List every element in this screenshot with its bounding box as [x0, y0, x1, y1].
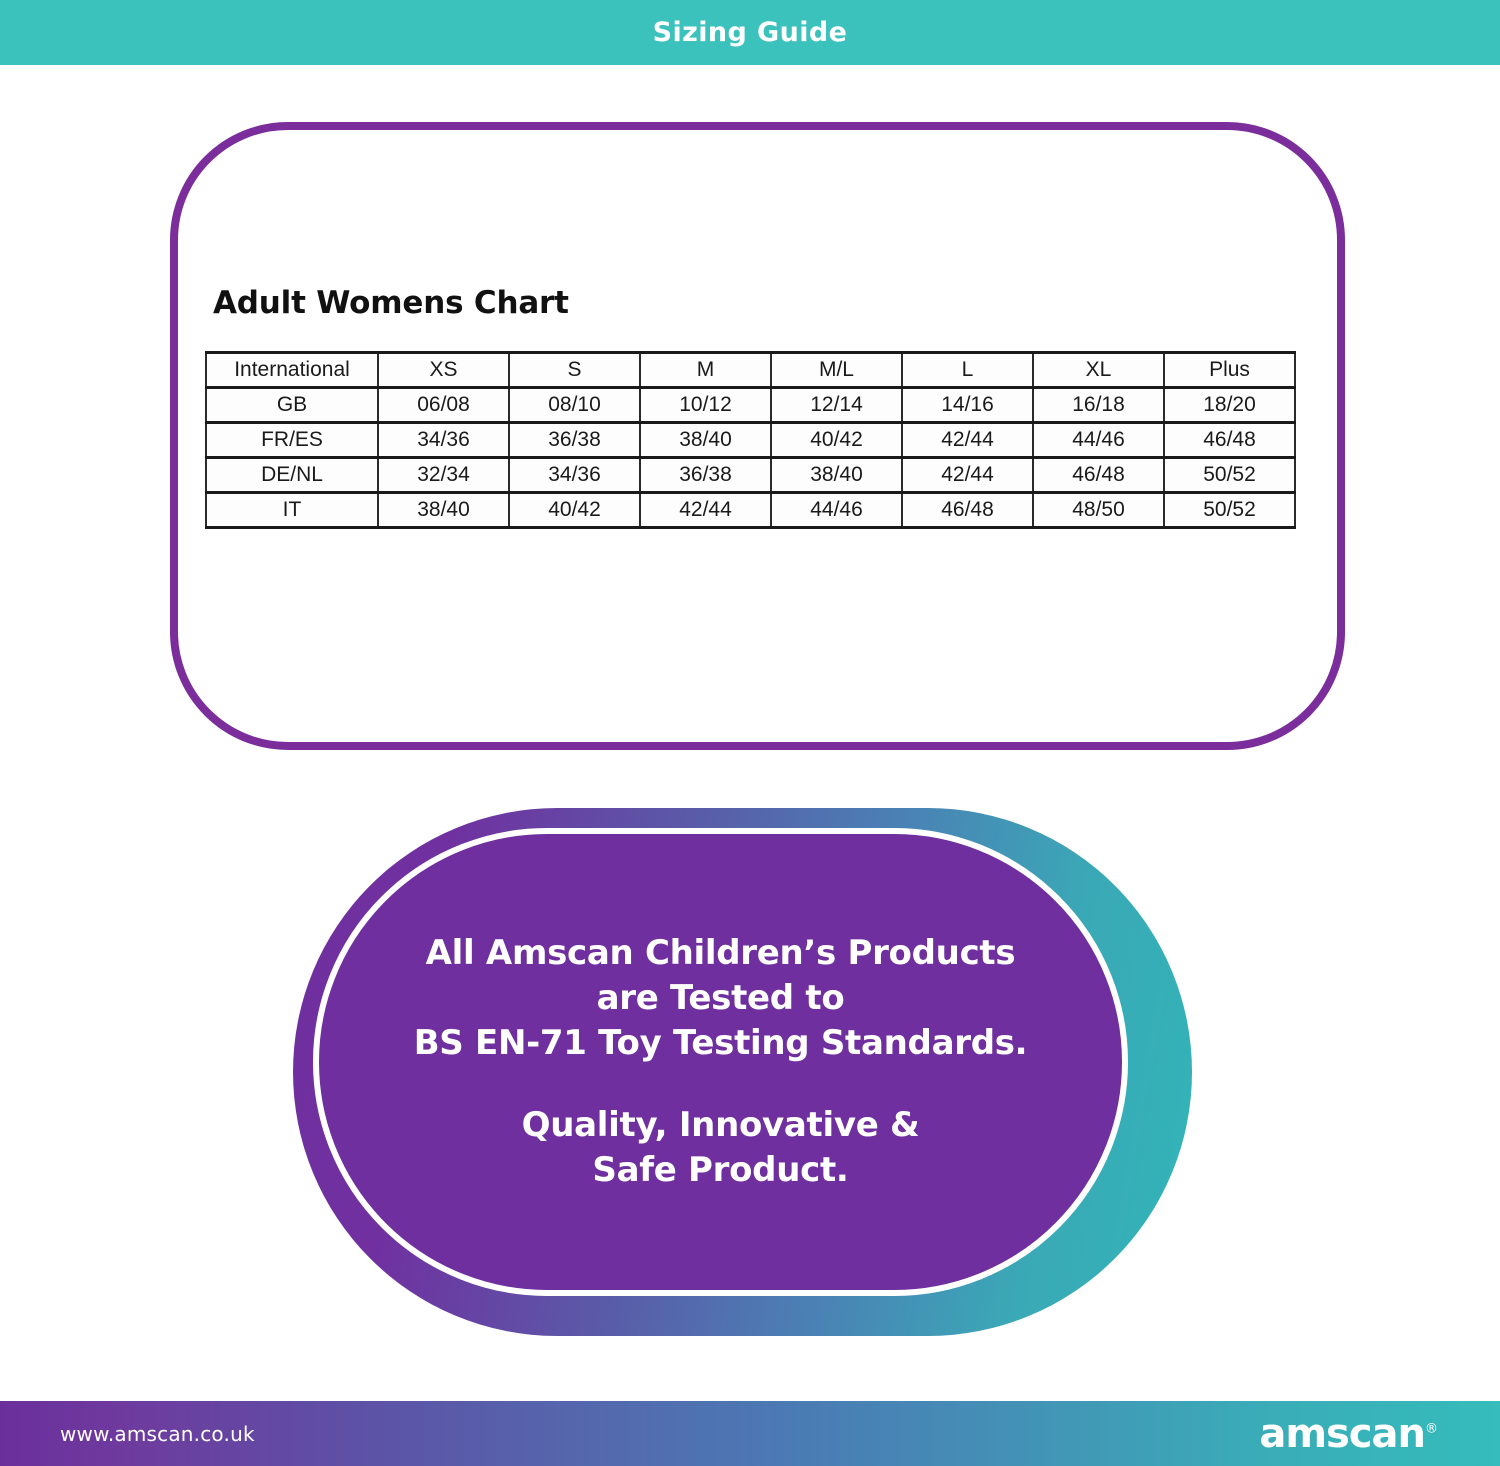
table-cell: 44/46: [1033, 423, 1164, 458]
badge-line: Safe Product.: [592, 1148, 848, 1193]
table-cell: 18/20: [1164, 388, 1295, 423]
table-cell: 40/42: [509, 493, 640, 528]
footer-website-url[interactable]: www.amscan.co.uk: [60, 1422, 255, 1446]
size-chart-table: International XS S M M/L L XL Plus GB 06…: [205, 351, 1296, 529]
table-cell: 50/52: [1164, 458, 1295, 493]
table-cell: 08/10: [509, 388, 640, 423]
table-header-row: International XS S M M/L L XL Plus: [206, 353, 1295, 388]
table-cell: 14/16: [902, 388, 1033, 423]
table-column-header: L: [902, 353, 1033, 388]
table-cell: 46/48: [1164, 423, 1295, 458]
table-row: GB 06/08 08/10 10/12 12/14 14/16 16/18 1…: [206, 388, 1295, 423]
table-cell: 46/48: [902, 493, 1033, 528]
badge-line: All Amscan Children’s Products: [426, 931, 1016, 976]
table-column-header: S: [509, 353, 640, 388]
table-column-header: XL: [1033, 353, 1164, 388]
table-cell: 46/48: [1033, 458, 1164, 493]
table-cell: 42/44: [902, 423, 1033, 458]
page-title: Sizing Guide: [653, 17, 848, 48]
table-cell: 12/14: [771, 388, 902, 423]
table-cell: 38/40: [771, 458, 902, 493]
row-label: FR/ES: [206, 423, 378, 458]
table-column-header: M: [640, 353, 771, 388]
table-cell: 38/40: [378, 493, 509, 528]
table-row: FR/ES 34/36 36/38 38/40 40/42 42/44 44/4…: [206, 423, 1295, 458]
table-cell: 16/18: [1033, 388, 1164, 423]
sizing-chart-content: Adult Womens Chart International XS S M …: [205, 285, 1300, 529]
footer-bar: www.amscan.co.uk amscan®: [0, 1401, 1500, 1466]
table-cell: 36/38: [640, 458, 771, 493]
table-column-header: International: [206, 353, 378, 388]
row-label: GB: [206, 388, 378, 423]
table-column-header: Plus: [1164, 353, 1295, 388]
row-label: DE/NL: [206, 458, 378, 493]
table-row: IT 38/40 40/42 42/44 44/46 46/48 48/50 5…: [206, 493, 1295, 528]
table-cell: 10/12: [640, 388, 771, 423]
table-cell: 34/36: [509, 458, 640, 493]
table-cell: 50/52: [1164, 493, 1295, 528]
table-cell: 36/38: [509, 423, 640, 458]
badge-line: Quality, Innovative &: [522, 1103, 920, 1148]
badge-line: BS EN-71 Toy Testing Standards.: [414, 1021, 1028, 1066]
table-cell: 32/34: [378, 458, 509, 493]
table-cell: 42/44: [640, 493, 771, 528]
table-cell: 42/44: [902, 458, 1033, 493]
table-cell: 38/40: [640, 423, 771, 458]
table-cell: 40/42: [771, 423, 902, 458]
header-bar: Sizing Guide: [0, 0, 1500, 65]
table-cell: 34/36: [378, 423, 509, 458]
table-cell: 44/46: [771, 493, 902, 528]
table-cell: 06/08: [378, 388, 509, 423]
table-column-header: XS: [378, 353, 509, 388]
safety-badge-inner: All Amscan Children’s Products are Teste…: [313, 828, 1128, 1296]
chart-heading: Adult Womens Chart: [213, 285, 1300, 321]
registered-trademark-icon: ®: [1425, 1421, 1438, 1436]
amscan-logo: amscan®: [1259, 1414, 1438, 1454]
table-cell: 48/50: [1033, 493, 1164, 528]
row-label: IT: [206, 493, 378, 528]
table-column-header: M/L: [771, 353, 902, 388]
badge-line: are Tested to: [597, 976, 845, 1021]
table-row: DE/NL 32/34 34/36 36/38 38/40 42/44 46/4…: [206, 458, 1295, 493]
amscan-logo-text: amscan: [1259, 1411, 1425, 1457]
